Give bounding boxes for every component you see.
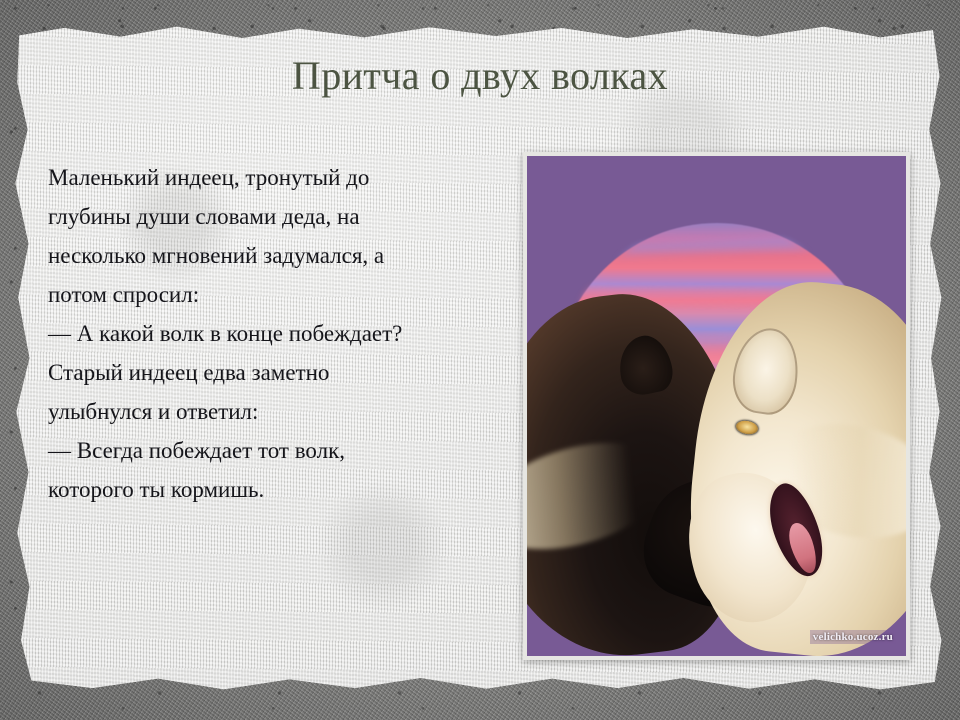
text-line: потом спросил: bbox=[48, 275, 498, 314]
parable-text-block: Маленький индеец, тронутый до глубины ду… bbox=[48, 158, 498, 509]
text-line: — А какой волк в конце побеждает? bbox=[48, 314, 498, 353]
slide-canvas: Притча о двух волках Маленький индеец, т… bbox=[0, 0, 960, 720]
text-line: глубины души словами деда, на bbox=[48, 197, 498, 236]
page-title: Притча о двух волках bbox=[0, 52, 960, 99]
text-line: несколько мгновений задумался, а bbox=[48, 236, 498, 275]
source-watermark: velichko.ucoz.ru bbox=[810, 630, 896, 644]
text-line: Старый индеец едва заметно bbox=[48, 353, 498, 392]
text-line: которого ты кормишь. bbox=[48, 470, 498, 509]
text-line: Маленький индеец, тронутый до bbox=[48, 158, 498, 197]
text-line: — Всегда побеждает тот волк, bbox=[48, 431, 498, 470]
text-line: улыбнулся и ответил: bbox=[48, 392, 498, 431]
wolves-illustration: velichko.ucoz.ru bbox=[527, 156, 906, 656]
wolves-illustration-frame: velichko.ucoz.ru bbox=[523, 152, 910, 660]
